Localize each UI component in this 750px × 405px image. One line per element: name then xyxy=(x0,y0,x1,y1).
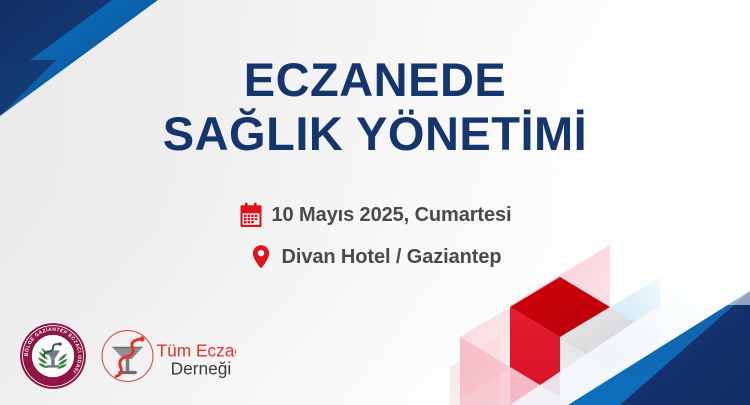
ted-logo-line-2: Derneği xyxy=(171,358,232,378)
logo-group: TEB 8. BÖLGE GAZİANTEP ECZACI ODASI xyxy=(18,321,236,391)
bottom-right-decoration xyxy=(450,245,750,405)
calendar-icon xyxy=(239,202,263,228)
map-pin-icon xyxy=(249,244,273,270)
page-title-line-2: SAĞLIK YÖNETİMİ xyxy=(0,110,750,158)
title-block: ECZANEDE SAĞLIK YÖNETİMİ xyxy=(0,56,750,158)
event-date-text: 10 Mayıs 2025, Cumartesi xyxy=(272,204,512,227)
page-title-line-1: ECZANEDE xyxy=(0,56,750,104)
tum-eczacilar-dernegi-logo: Tüm Eczacılar Derneği xyxy=(94,327,236,385)
chalice-icon xyxy=(112,347,143,374)
bottom-right-geometry-svg xyxy=(450,245,750,405)
event-date-row: 10 Mayıs 2025, Cumartesi xyxy=(0,198,750,232)
gaziantep-eczaci-odasi-seal: TEB 8. BÖLGE GAZİANTEP ECZACI ODASI xyxy=(18,321,88,391)
event-banner: ECZANEDE SAĞLIK YÖNETİMİ xyxy=(0,0,750,405)
